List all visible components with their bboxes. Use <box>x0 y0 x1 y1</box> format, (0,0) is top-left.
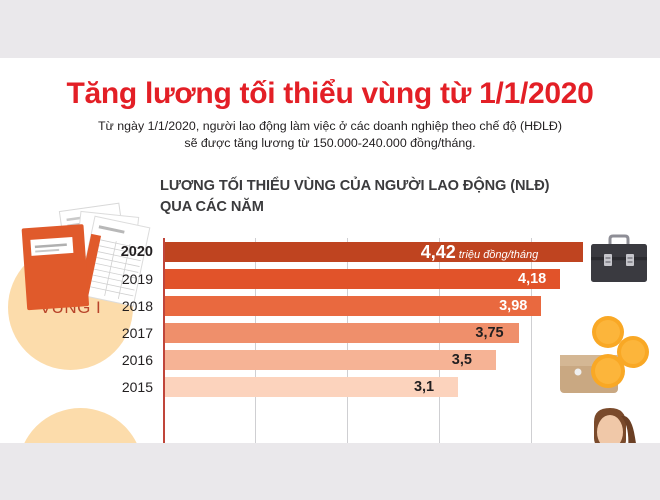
bar-value-label: 3,5 <box>452 352 472 368</box>
chart-bar <box>165 350 496 370</box>
page-title: Tăng lương tối thiểu vùng từ 1/1/2020 <box>0 77 660 111</box>
briefcase-icon <box>588 233 650 285</box>
chart-gridline <box>255 427 256 443</box>
chart-gridline <box>439 427 440 443</box>
page-subtitle: Từ ngày 1/1/2020, người lao động làm việ… <box>40 118 620 152</box>
bar-year-label: 2017 <box>93 325 153 341</box>
chart-bar <box>165 296 541 316</box>
bar-value-label: 3,98 <box>499 298 527 314</box>
chart-gridline <box>347 427 348 443</box>
bar-year-label: 2018 <box>93 298 153 314</box>
bar-value-label: 4,18 <box>518 271 546 287</box>
subtitle-line-2: sẽ được tăng lương từ 150.000-240.000 đồ… <box>184 136 475 150</box>
bar-year-label: 2015 <box>93 379 153 395</box>
bar-year-label: 2016 <box>93 352 153 368</box>
chart-title-line-2: QUA CÁC NĂM <box>160 199 264 215</box>
bar-value-label: 3,75 <box>475 325 503 341</box>
bar-chart: 20204,42triệu đồng/tháng20194,1820183,98… <box>163 238 593 443</box>
bar-value-label: 3,1 <box>414 379 434 395</box>
chart-bar <box>165 323 519 343</box>
chart-bar <box>165 269 560 289</box>
chart-title: LƯƠNG TỐI THIỂU VÙNG CỦA NGƯỜI LAO ĐỘNG … <box>160 176 580 218</box>
chart-title-line-1: LƯƠNG TỐI THIỂU VÙNG CỦA NGƯỜI LAO ĐỘNG … <box>160 178 549 194</box>
chart-gridline <box>531 427 532 443</box>
bar-year-label: 2020 <box>93 244 153 260</box>
chart-axis <box>163 427 165 443</box>
infographic-stage: VÙNG I <box>0 0 660 500</box>
content-panel: VÙNG I <box>0 58 660 443</box>
zone-circle-2 <box>18 408 143 443</box>
bar-year-label: 2019 <box>93 271 153 287</box>
subtitle-line-1: Từ ngày 1/1/2020, người lao động làm việ… <box>98 119 562 133</box>
bar-value-label: 4,42triệu đồng/tháng <box>421 242 539 263</box>
